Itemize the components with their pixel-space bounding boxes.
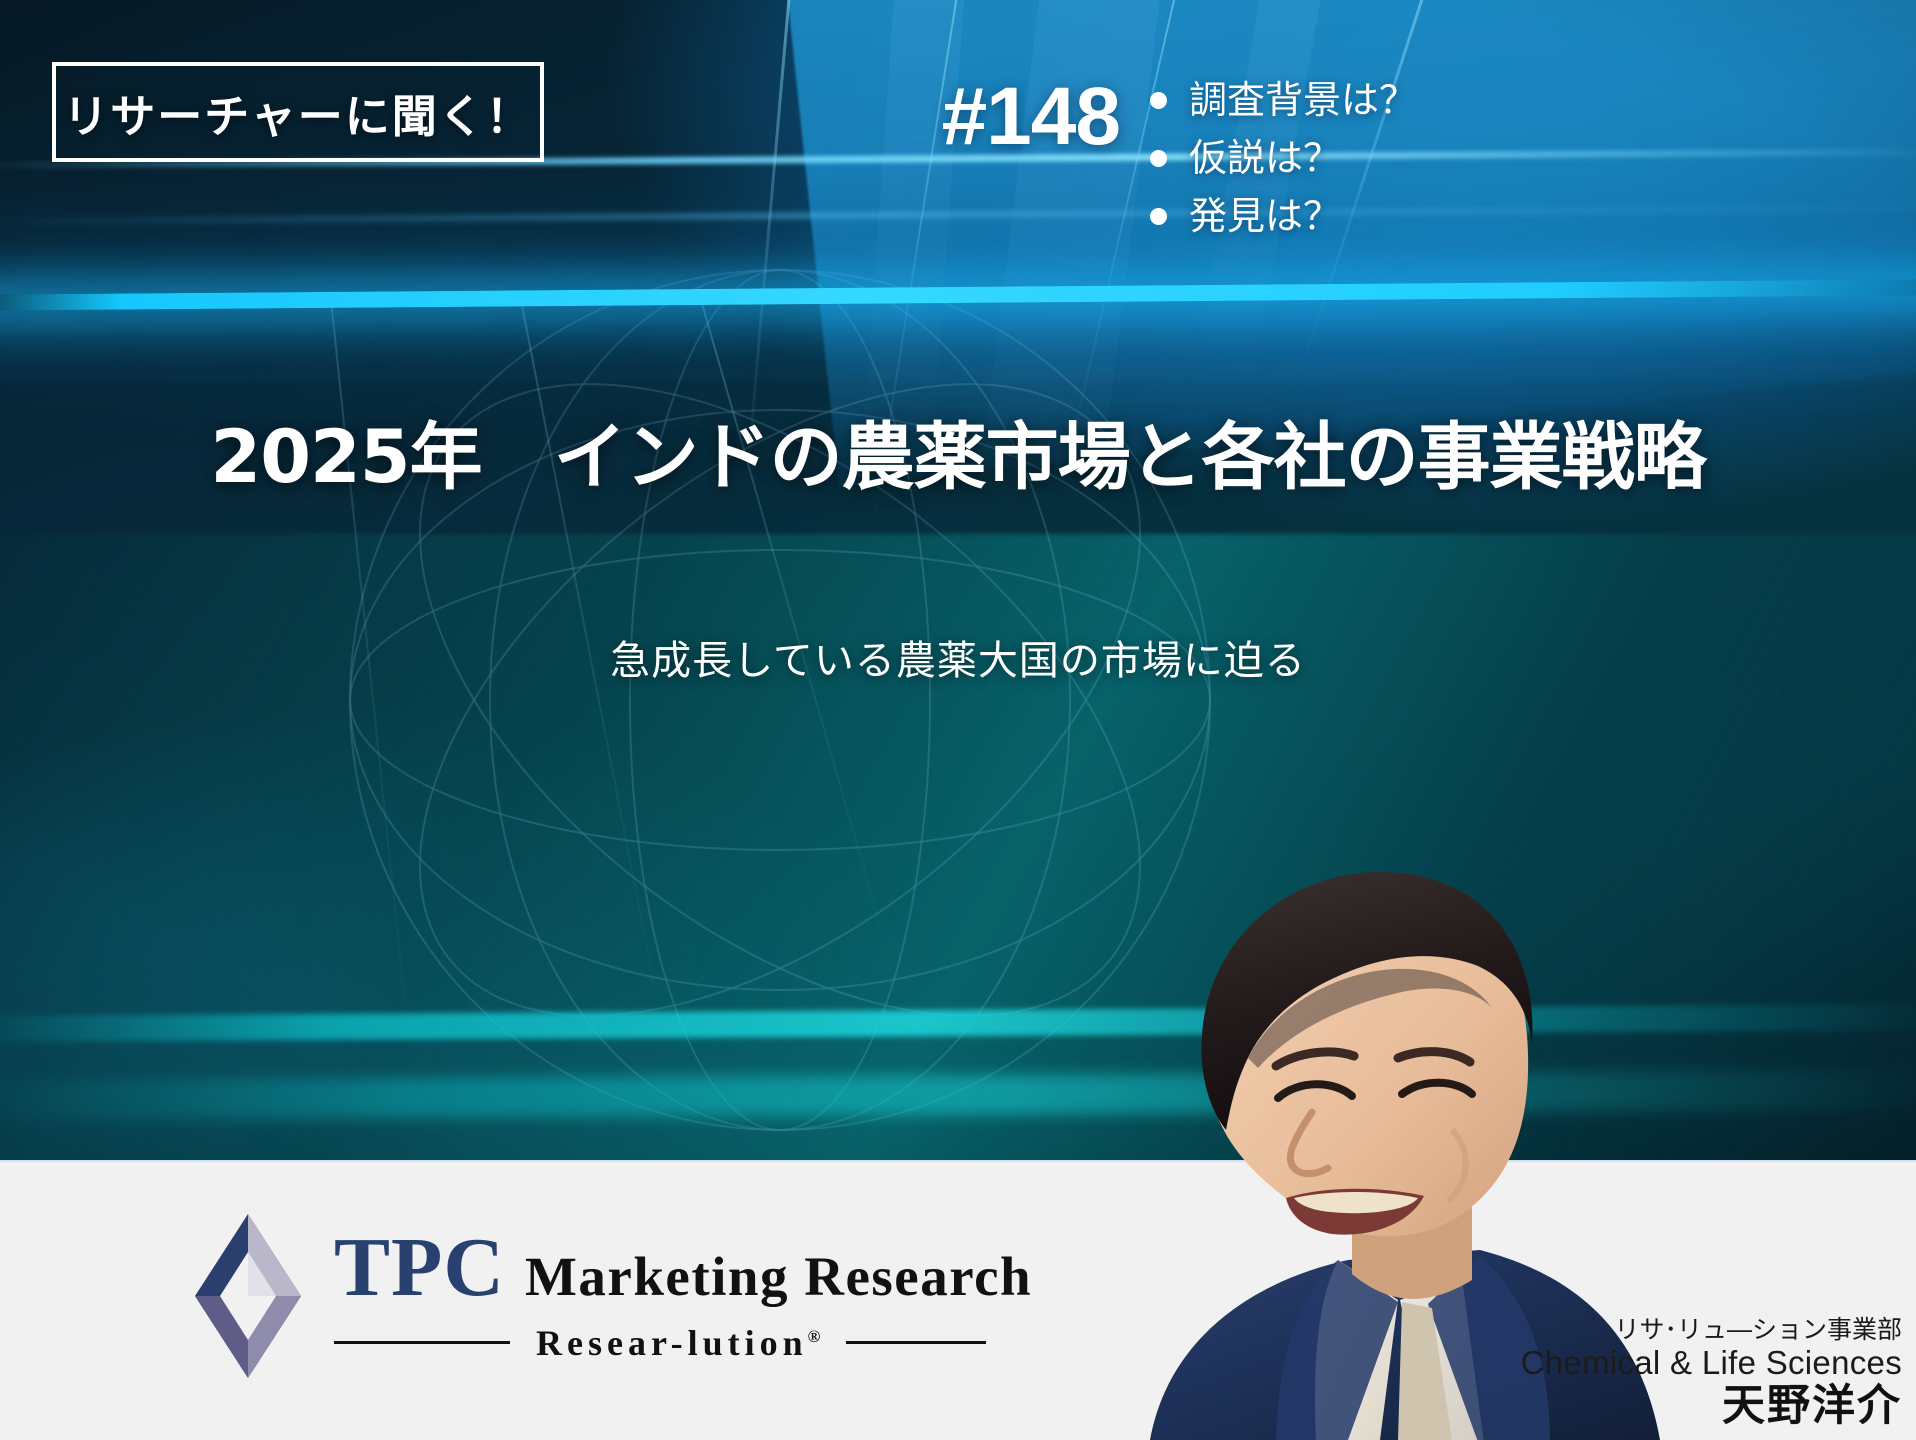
logo-brand: TPC xyxy=(334,1228,505,1308)
logo-rule-left xyxy=(334,1341,510,1344)
diamond-logo-icon xyxy=(188,1212,308,1380)
series-badge-label: リサーチャーに聞く！ xyxy=(63,80,533,145)
list-item: 仮説は？ xyxy=(1150,130,1417,188)
presenter-department-en: Chemical & Life Sciences xyxy=(1521,1344,1902,1382)
bullet-dot-icon xyxy=(1150,150,1167,167)
question-label: 調査背景は？ xyxy=(1189,72,1417,130)
page-subtitle: 急成長している農薬大国の市場に迫る xyxy=(0,628,1916,686)
logo-rule-right xyxy=(846,1341,986,1344)
logo-brand-sub: Marketing Research xyxy=(525,1251,1032,1303)
slide-canvas: リサーチャーに聞く！ #148 調査背景は？ 仮説は？ 発見は？ 2025年 イ… xyxy=(0,0,1916,1440)
presenter-signoff: リサ･リュ―ション事業部 Chemical & Life Sciences 天野… xyxy=(1521,1315,1902,1432)
logo-tagline: Resear-lution® xyxy=(536,1322,820,1364)
question-list: 調査背景は？ 仮説は？ 発見は？ xyxy=(1150,72,1417,245)
issue-number: #148 xyxy=(860,70,1120,164)
question-label: 発見は？ xyxy=(1189,188,1341,246)
presenter-department: リサ･リュ―ション事業部 xyxy=(1521,1315,1902,1344)
bullet-dot-icon xyxy=(1150,208,1167,225)
page-title: 2025年 インドの農薬市場と各社の事業戦略 xyxy=(0,398,1916,504)
presenter-name: 天野洋介 xyxy=(1521,1382,1902,1432)
bullet-dot-icon xyxy=(1150,92,1167,109)
logo-tagline-text: Resear-lution xyxy=(536,1323,808,1363)
tpc-logo: TPC Marketing Research Resear-lution® xyxy=(188,1212,1032,1380)
series-badge: リサーチャーに聞く！ xyxy=(52,62,544,162)
list-item: 調査背景は？ xyxy=(1150,72,1417,130)
list-item: 発見は？ xyxy=(1150,188,1417,246)
question-label: 仮説は？ xyxy=(1189,130,1341,188)
registered-mark-icon: ® xyxy=(808,1327,821,1346)
